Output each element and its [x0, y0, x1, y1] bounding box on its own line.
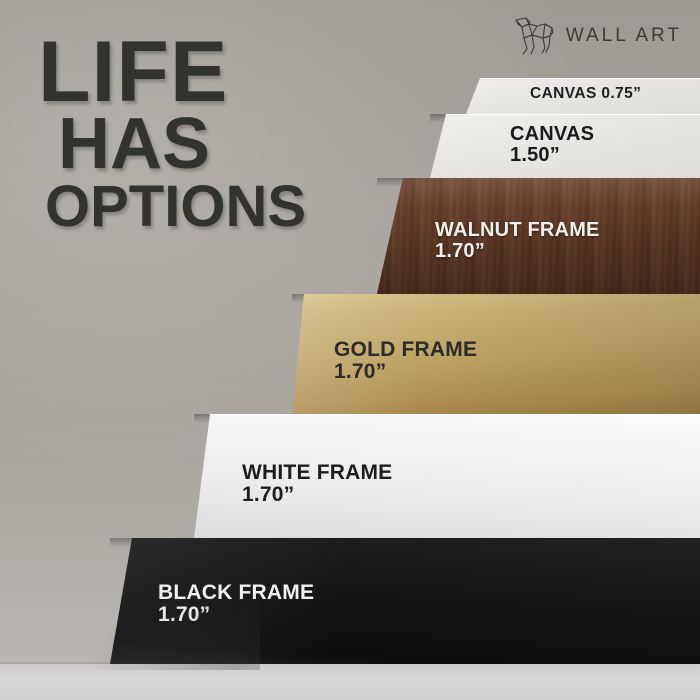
option-panel-white-frame[interactable]: WHITE FRAME 1.70” [194, 414, 700, 538]
option-label-black-frame: BLACK FRAME 1.70” [158, 582, 314, 626]
option-panel-canvas-075[interactable]: CANVAS 0.75” [466, 78, 700, 114]
option-label-white-frame: WHITE FRAME 1.70” [242, 462, 392, 506]
brand-lockup[interactable]: WALL ART [512, 16, 682, 56]
option-label-walnut-frame: WALNUT FRAME 1.70” [435, 220, 600, 262]
option-panel-gold-frame[interactable]: GOLD FRAME 1.70” [292, 294, 700, 414]
headline-line-2: HAS [58, 114, 306, 176]
origami-goat-icon [512, 16, 558, 56]
option-panel-canvas-150[interactable]: CANVAS 1.50” [430, 114, 700, 178]
option-panel-black-frame[interactable]: BLACK FRAME 1.70” [110, 538, 700, 664]
headline-line-3: OPTIONS [45, 182, 306, 232]
page-title: LIFE HAS OPTIONS [38, 36, 306, 232]
option-panel-walnut-frame[interactable]: WALNUT FRAME 1.70” [377, 178, 700, 294]
option-label-canvas-150: CANVAS 1.50” [510, 124, 594, 166]
option-label-canvas-075: CANVAS 0.75” [530, 86, 641, 102]
headline-line-1: LIFE [38, 36, 306, 110]
brand-name: WALL ART [566, 25, 682, 47]
floor-surface [0, 664, 700, 700]
option-label-gold-frame: GOLD FRAME 1.70” [334, 339, 477, 383]
product-options-banner: LIFE HAS OPTIONS WALL ART [0, 0, 700, 700]
